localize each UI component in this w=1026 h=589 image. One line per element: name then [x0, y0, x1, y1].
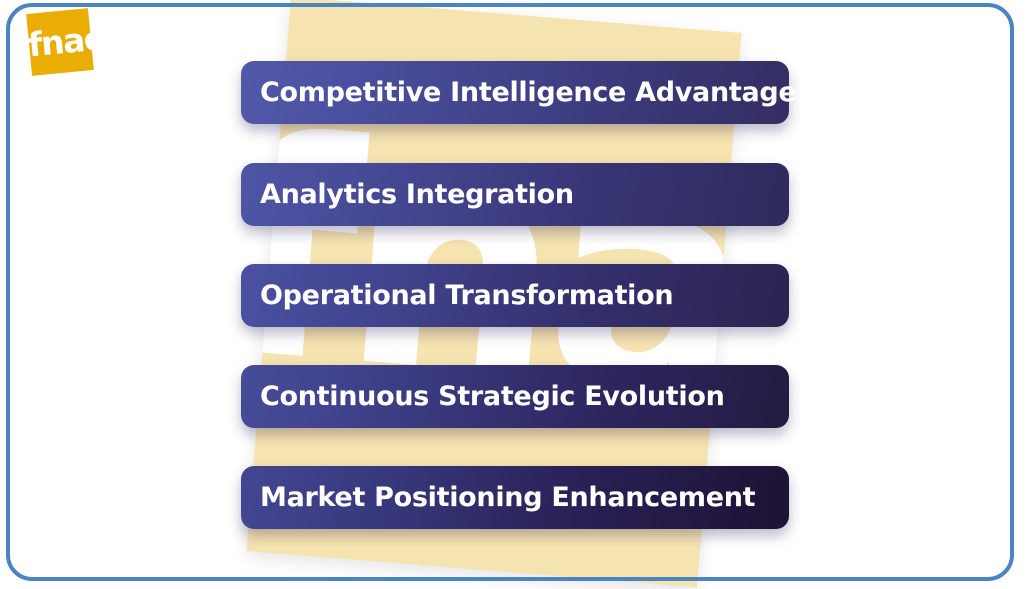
- benefit-banner-3[interactable]: Operational Transformation: [241, 264, 789, 327]
- benefit-banner-5-label: Market Positioning Enhancement: [260, 482, 755, 513]
- logo-wordmark: fnac: [27, 22, 104, 62]
- benefit-banner-1-label: Competitive Intelligence Advantage: [260, 77, 796, 108]
- benefit-banner-4-label: Continuous Strategic Evolution: [260, 381, 725, 412]
- benefit-banner-4[interactable]: Continuous Strategic Evolution: [241, 365, 789, 428]
- infographic-canvas: fnac fnac Competitive Intelligence Advan…: [0, 0, 1026, 589]
- benefit-banner-3-label: Operational Transformation: [260, 280, 673, 311]
- fnac-logo: fnac: [29, 11, 91, 73]
- benefit-banner-list: Competitive Intelligence Advantage Analy…: [0, 0, 1026, 589]
- benefit-banner-2[interactable]: Analytics Integration: [241, 163, 789, 226]
- benefit-banner-2-label: Analytics Integration: [260, 179, 574, 210]
- benefit-banner-5[interactable]: Market Positioning Enhancement: [241, 466, 789, 529]
- benefit-banner-1[interactable]: Competitive Intelligence Advantage: [241, 61, 789, 124]
